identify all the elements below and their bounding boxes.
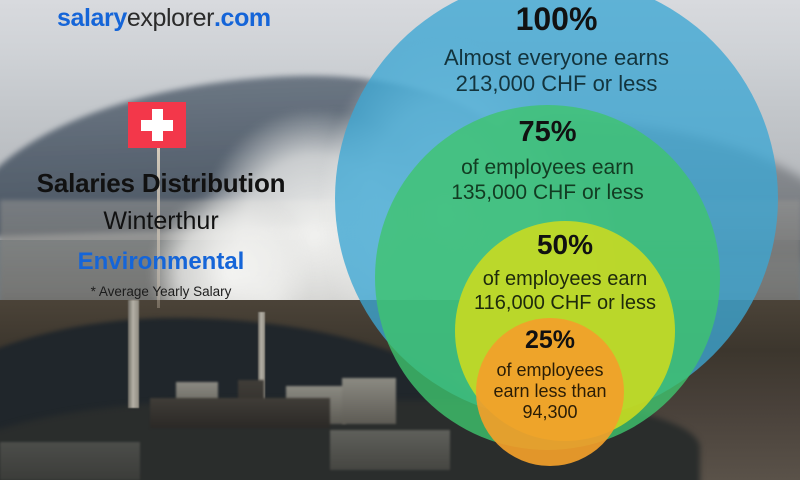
percentile-75-description: of employees earn 135,000 CHF or less [451,156,644,206]
percentile-circle-25: 25% of employees earn less than 94,300 [476,318,624,466]
page-title: Salaries Distribution [2,168,320,199]
percentile-75-line2: 135,000 CHF or less [451,181,644,206]
logo-part-salary: salary [57,4,127,32]
logo-part-com: .com [214,4,271,32]
percentile-25-line3: 94,300 [493,402,606,423]
percentile-100-line2: 213,000 CHF or less [444,71,669,97]
percentile-25-line1: of employees [493,360,606,381]
infographic-canvas: salaryexplorer.com Salaries Distribution… [0,0,800,480]
site-logo[interactable]: salaryexplorer.com [57,4,271,33]
percentile-25-value: 25% [525,328,575,353]
percentile-50-description: of employees earn 116,000 CHF or less [474,268,656,315]
smokestack-1 [128,300,139,408]
flag-cross-horizontal [141,120,173,131]
percentile-50-line2: 116,000 CHF or less [474,292,656,316]
percentile-50-value: 50% [537,231,593,259]
switzerland-flag-icon [128,102,186,148]
plant-building-5 [330,430,450,470]
plant-building-row [150,398,330,428]
city-label: Winterthur [2,207,320,236]
percentile-50-line1: of employees earn [474,268,656,292]
percentile-25-line2: earn less than [493,381,606,402]
plant-building-4 [342,378,396,424]
percentile-100-value: 100% [516,3,598,35]
salary-basis-note: * Average Yearly Salary [2,284,320,299]
percentile-75-value: 75% [518,118,576,147]
percentile-75-line1: of employees earn [451,156,644,181]
percentile-100-description: Almost everyone earns 213,000 CHF or les… [444,45,669,97]
plant-building-6 [0,442,140,480]
percentile-100-line1: Almost everyone earns [444,45,669,71]
logo-part-explorer: explorer [127,4,214,32]
job-category-label: Environmental [2,248,320,276]
percentile-25-description: of employees earn less than 94,300 [493,360,606,424]
